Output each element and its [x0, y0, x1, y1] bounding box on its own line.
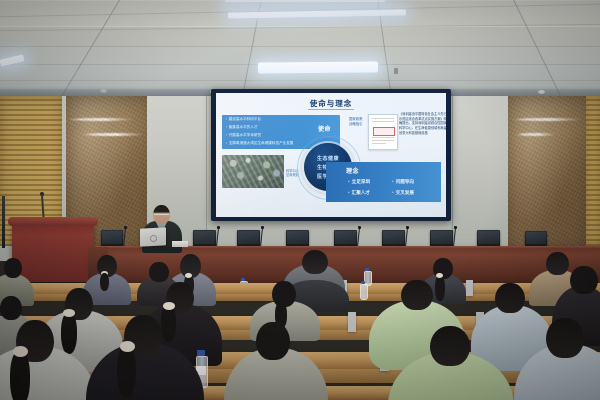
philosophy-box: 理念 立足深圳 问题导向 汇聚人才 交叉发展 — [326, 162, 441, 202]
flip-up-monitor[interactable] — [334, 230, 357, 247]
wooden-podium[interactable] — [12, 222, 94, 282]
policy-callout-text: 《深圳建设中国特色社会主义先行示范区综合改革试点实施方案》明确提出，支持深圳建设… — [399, 112, 446, 135]
desk-divider — [466, 280, 473, 296]
ceiling-sensor — [394, 68, 398, 74]
ceiling-panel-light — [225, 0, 385, 2]
flip-up-monitor[interactable] — [430, 230, 453, 247]
mission-bullet: 聚集高水平的人才 — [226, 126, 257, 130]
floor-stand-pole — [2, 196, 5, 248]
water-bottle-cap — [365, 268, 369, 271]
wall-panel — [451, 96, 508, 248]
desk-microphone-head — [454, 226, 457, 229]
philosophy-item: 问题导向 — [392, 179, 414, 185]
flip-up-monitor[interactable] — [237, 230, 260, 247]
water-bottle-cap — [197, 350, 205, 356]
flip-up-monitor[interactable] — [101, 230, 123, 247]
wall-groove — [452, 96, 453, 246]
flip-up-monitor[interactable] — [525, 231, 547, 247]
stone-wall-panel — [508, 96, 586, 252]
desk-microphone-head — [358, 226, 361, 229]
title-underline — [308, 109, 354, 110]
water-bottle-cap — [361, 281, 365, 284]
core-line: 生态健康 — [317, 155, 339, 162]
philosophy-label: 理念 — [346, 166, 359, 175]
philosophy-item: 汇聚人才 — [348, 190, 370, 196]
podium-top-surface — [8, 217, 98, 226]
desk-microphone-head — [124, 226, 127, 229]
philosophy-item: 立足深圳 — [348, 179, 370, 185]
campus-aerial-photo — [222, 155, 284, 188]
ceiling-panel-light — [258, 61, 378, 73]
mission-bullet: 开展高水平学术研究 — [226, 134, 261, 138]
mission-label: 使命 — [318, 124, 331, 133]
projection-screen[interactable]: 使命与理念 使命 建设高水平科研平台 聚集高水平的人才 开展高水平学术研究 支撑… — [211, 89, 451, 221]
wall-groove — [206, 96, 207, 246]
desk-microphone-head — [406, 226, 409, 229]
lecture-hall-scene: 使命与理念 使命 建设高水平科研平台 聚集高水平的人才 开展高水平学术研究 支撑… — [0, 0, 600, 400]
water-bottle[interactable] — [360, 284, 368, 300]
mission-bullet: 支撑粤港澳大湾区生命健康科技产业发展 — [226, 142, 293, 146]
flip-up-monitor[interactable] — [382, 230, 405, 247]
desk-microphone-head — [217, 226, 220, 229]
wood-slat-panel — [586, 96, 600, 246]
ceiling — [0, 0, 600, 100]
mission-bullet: 建设高水平科研平台 — [226, 118, 261, 122]
desk-nameplate — [172, 241, 188, 247]
laptop-logo-icon — [150, 235, 157, 242]
policy-callout-label: 国家政策 战略指引 — [349, 117, 363, 127]
presentation-slide: 使命与理念 使命 建设高水平科研平台 聚集高水平的人才 开展高水平学术研究 支撑… — [216, 93, 446, 217]
slide-title: 使命与理念 — [216, 98, 446, 109]
desk-divider — [348, 312, 356, 332]
flip-up-monitor[interactable] — [477, 230, 500, 247]
flip-up-monitor[interactable] — [193, 230, 216, 247]
philosophy-item: 交叉发展 — [392, 190, 414, 196]
water-bottle-cap — [241, 278, 245, 281]
flip-up-monitor[interactable] — [286, 230, 309, 247]
policy-document-thumbnail — [368, 114, 398, 150]
desk-microphone-head — [261, 226, 264, 229]
document-highlight-box — [373, 127, 395, 136]
presenter-glasses — [154, 214, 169, 218]
